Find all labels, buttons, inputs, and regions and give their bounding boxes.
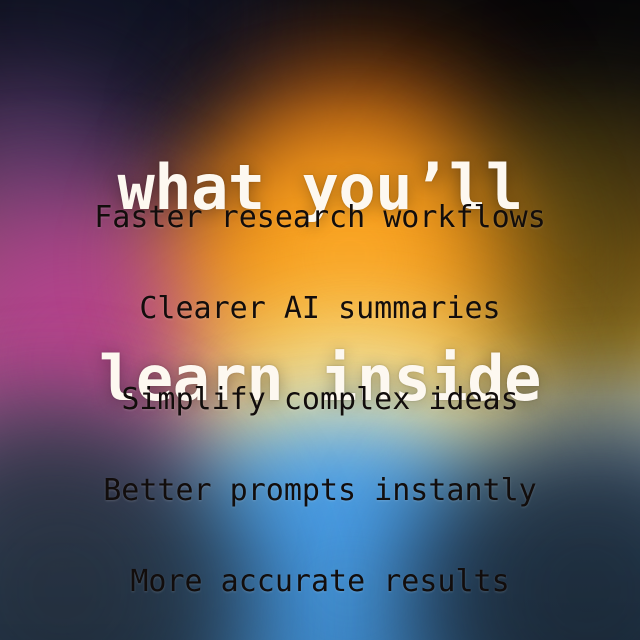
poster-content: what you’ll learn inside Faster research… — [0, 0, 640, 640]
benefit-item-4: Better prompts instantly — [0, 445, 640, 536]
promo-poster: what you’ll learn inside Faster research… — [0, 0, 640, 640]
benefit-item-1: Faster research workflows — [0, 172, 640, 263]
benefit-item-5: More accurate results — [0, 536, 640, 627]
benefit-list: Faster research workflows Clearer AI sum… — [0, 172, 640, 627]
benefit-item-3: Simplify complex ideas — [0, 354, 640, 445]
benefit-item-2: Clearer AI summaries — [0, 263, 640, 354]
